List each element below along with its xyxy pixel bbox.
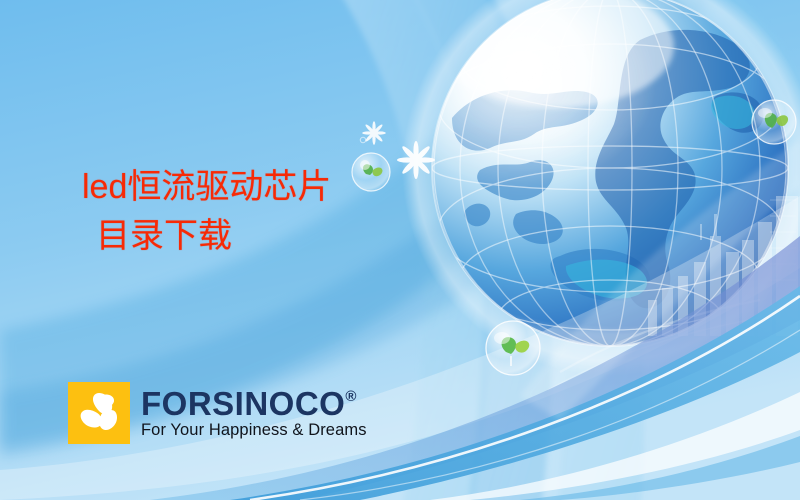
headline-line-2: 目录下载 (82, 212, 331, 261)
logo-tagline: For Your Happiness & Dreams (141, 421, 367, 439)
bubble-3 (752, 100, 796, 144)
registered-trademark-icon: ® (345, 389, 357, 404)
logo-text: FORSINOCO ® For Your Happiness & Dreams (141, 387, 367, 440)
bubble-1 (352, 153, 390, 191)
bubble-2 (486, 321, 540, 375)
daisy-1 (397, 141, 435, 179)
four-petal-flower-icon (68, 382, 130, 444)
promo-banner: led恒流驱动芯片 目录下载 FORSINOCO ® For Your Happ… (0, 0, 800, 500)
logo-wordmark-text: FORSINOCO (141, 387, 345, 421)
headline: led恒流驱动芯片 目录下载 (82, 163, 331, 262)
logo-mark (68, 382, 130, 444)
headline-line-1: led恒流驱动芯片 (82, 163, 331, 212)
logo-wordmark: FORSINOCO ® (141, 387, 367, 421)
company-logo[interactable]: FORSINOCO ® For Your Happiness & Dreams (68, 382, 367, 444)
